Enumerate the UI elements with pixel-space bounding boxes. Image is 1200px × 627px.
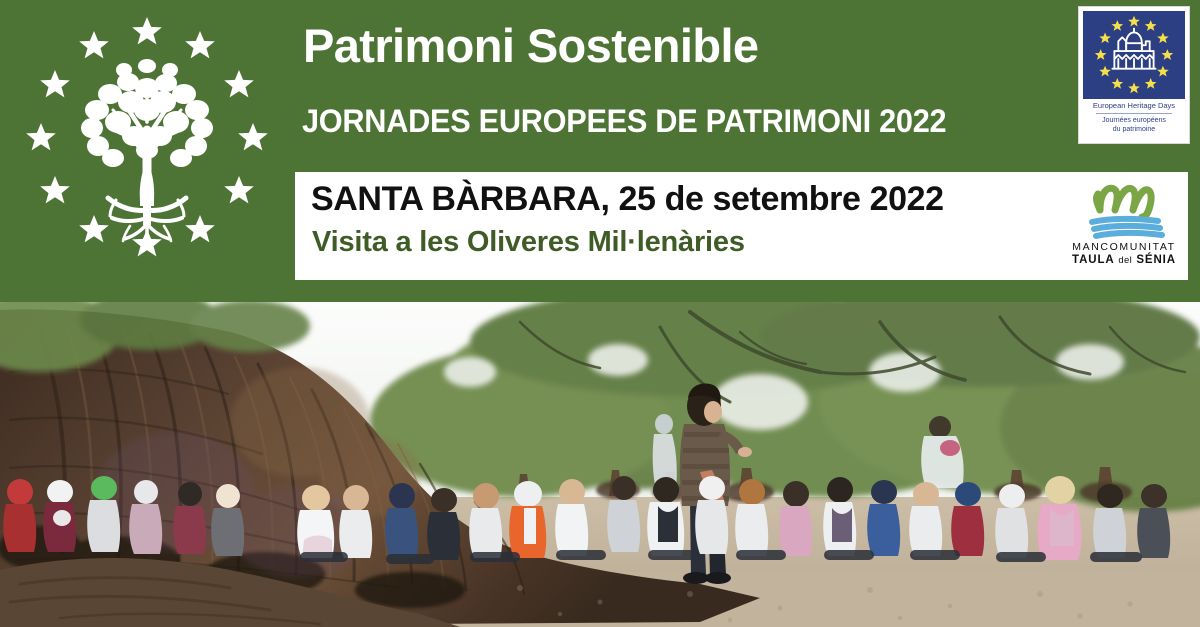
mancomunitat-line-1: MANCOMUNITAT	[1070, 241, 1178, 254]
tree-with-stars-emblem	[18, 10, 276, 282]
poster: Patrimoni Sostenible JORNADES EUROPEES D…	[0, 0, 1200, 627]
eu-logo-caption-divider	[1096, 113, 1171, 114]
eu-logo-caption-en: European Heritage Days	[1083, 101, 1185, 111]
event-place-and-date: SANTA BÀRBARA, 25 de setembre 2022	[311, 182, 944, 216]
eu-flag-monument-icon	[1083, 11, 1185, 99]
mancomunitat-mark-icon	[1070, 178, 1178, 240]
mancomunitat-taula-del-senia-logo: MANCOMUNITAT TAULA del SÉNIA	[1070, 178, 1178, 274]
mancomunitat-senia: SÉNIA	[1136, 254, 1176, 266]
mancomunitat-line-2: TAULA del SÉNIA	[1070, 254, 1178, 267]
mancomunitat-wordmark: MANCOMUNITAT TAULA del SÉNIA	[1070, 241, 1178, 267]
poster-header: Patrimoni Sostenible JORNADES EUROPEES D…	[0, 0, 1200, 302]
event-info-box: SANTA BÀRBARA, 25 de setembre 2022 Visit…	[295, 172, 1188, 280]
eu-logo-caption-fr-1: Journées européens	[1083, 116, 1185, 125]
eu-logo-caption-fr-2: du patrimoine	[1083, 125, 1185, 134]
event-activity-title: Visita a les Oliveres Mil·lenàries	[312, 228, 745, 257]
olive-grove-school-visit-photo	[0, 302, 1200, 627]
poster-subtitle: JORNADES EUROPEES DE PATRIMONI 2022	[302, 105, 946, 137]
european-heritage-days-logo: European Heritage Days Journées européen…	[1078, 6, 1190, 144]
eu-logo-caption: European Heritage Days Journées européen…	[1083, 101, 1185, 134]
mancomunitat-del: del	[1118, 255, 1132, 266]
poster-title: Patrimoni Sostenible	[303, 22, 758, 69]
mancomunitat-taula: TAULA	[1072, 254, 1114, 266]
